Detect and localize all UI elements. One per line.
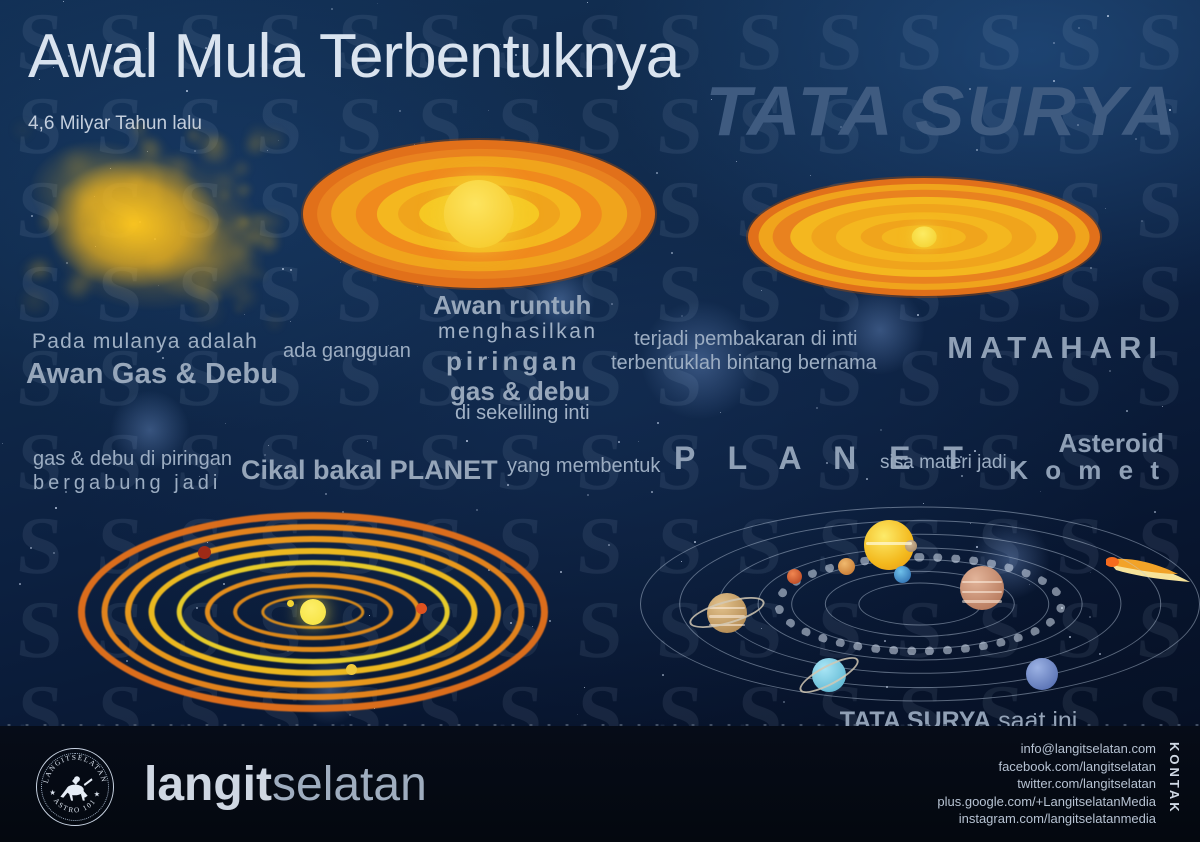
cloud-fleck	[188, 298, 229, 326]
cloud-fleck	[251, 268, 270, 281]
caption-star-name: MATAHARI	[947, 330, 1164, 366]
star	[349, 714, 351, 716]
caption-comet: K o m e t	[1009, 455, 1164, 486]
cloud-fleck	[252, 230, 265, 239]
cloud-fleck	[226, 243, 254, 263]
star	[587, 2, 588, 3]
star	[1126, 410, 1128, 412]
cloud-fleck	[55, 148, 97, 177]
star	[638, 441, 639, 442]
star	[611, 303, 613, 305]
brand-name-bold: langit	[144, 758, 272, 811]
caption-disturbance: ada gangguan	[283, 340, 411, 363]
page-title: Awal Mula Terbentuknya	[28, 26, 679, 88]
star	[55, 507, 57, 509]
star	[19, 583, 21, 585]
cloud-fleck	[139, 226, 150, 233]
star	[816, 407, 818, 409]
cloud-fleck	[261, 214, 283, 230]
star	[866, 478, 868, 480]
star	[651, 491, 653, 493]
star	[325, 493, 327, 495]
cloud-fleck	[68, 251, 107, 278]
badge-centaur-emblem	[60, 776, 92, 800]
star	[587, 494, 589, 496]
cloud-fleck	[157, 152, 199, 182]
watermark-glyph: S	[0, 504, 83, 588]
star	[30, 547, 32, 549]
star	[608, 544, 610, 546]
planet-band	[962, 591, 1002, 593]
footer-divider	[0, 724, 1200, 726]
protoplanetary-system-illustration	[78, 512, 548, 712]
planet-mars	[787, 569, 802, 584]
star	[720, 412, 721, 413]
caption-collapse-line4: di sekeliling inti	[455, 402, 590, 425]
protostar-disk-illustration	[748, 178, 1100, 296]
watermark-glyph: S	[557, 504, 643, 588]
asteroid-belt	[774, 553, 1065, 655]
star	[268, 445, 269, 446]
watermark-glyph: S	[557, 588, 643, 672]
star	[671, 252, 673, 254]
caption-cloud-line2: Awan Gas & Debu	[26, 358, 278, 391]
cloud-fleck	[80, 223, 102, 239]
star	[1107, 15, 1109, 17]
star	[681, 315, 683, 317]
cloud-fleck	[217, 190, 233, 201]
star	[290, 321, 291, 322]
star	[1162, 406, 1163, 407]
cloud-fleck	[204, 268, 214, 275]
star	[549, 620, 551, 622]
protoplanet-pale	[346, 664, 357, 675]
cloud-fleck	[210, 214, 220, 221]
page-title-accent: TATA SURYA	[705, 76, 1178, 146]
star	[225, 423, 226, 424]
gas-dust-cloud-illustration	[22, 128, 276, 328]
contact-section-label: KONTAK	[1167, 742, 1182, 815]
caption-forming: yang membentuk	[507, 455, 660, 478]
cloud-fleck	[233, 182, 255, 198]
star	[367, 441, 368, 442]
contact-item[interactable]: twitter.com/langitselatan	[937, 775, 1156, 793]
star	[880, 429, 882, 431]
infographic-poster: SSSSSSSSSSSSSSSSSSSSSSSSSSSSSSSSSSSSSSSS…	[0, 0, 1200, 842]
cloud-fleck	[132, 132, 146, 142]
star	[584, 687, 585, 688]
disk-core	[912, 226, 937, 247]
watermark-glyph: S	[1117, 168, 1200, 252]
contact-item[interactable]: facebook.com/langitselatan	[937, 758, 1156, 776]
caption-protoplanet: Cikal bakal PLANET	[241, 455, 498, 486]
protostar-core	[300, 599, 326, 625]
collapsing-disk-illustration	[303, 140, 655, 288]
star	[2, 443, 3, 444]
cloud-fleck	[14, 287, 54, 315]
star	[53, 552, 55, 554]
caption-ignition-line2: terbentuklah bintang bernama	[611, 352, 877, 375]
cloud-fleck	[226, 214, 255, 234]
cloud-fleck	[10, 121, 35, 139]
planet-jupiter	[960, 566, 1004, 610]
contact-item[interactable]: instagram.com/langitselatanmedia	[937, 810, 1156, 828]
sun-band	[866, 542, 912, 545]
star	[476, 509, 478, 511]
planet-band	[962, 600, 1002, 602]
caption-cloud-line1: Pada mulanya adalah	[32, 330, 258, 354]
caption-accretion-line2: bergabung jadi	[33, 472, 221, 495]
caption-collapse-line1: menghasilkan	[438, 320, 598, 344]
star	[917, 314, 919, 316]
cloud-fleck	[188, 278, 217, 298]
caption-collapse-title: Awan runtuh	[433, 290, 591, 321]
star	[736, 161, 737, 162]
star	[1078, 27, 1080, 29]
cloud-fleck	[194, 136, 235, 165]
planet-earth	[894, 566, 911, 583]
cloud-fleck	[144, 209, 165, 224]
star	[1053, 42, 1055, 44]
disk-core	[444, 180, 514, 248]
protoplanet-red	[198, 546, 211, 559]
star	[1141, 220, 1143, 222]
cloud-fleck	[267, 317, 282, 328]
caption-accretion-line1: gas & debu di piringan	[33, 448, 232, 471]
star	[466, 440, 468, 442]
contact-item[interactable]: plus.google.com/+LangitselatanMedia	[937, 793, 1156, 811]
badge-lettering: LANGITSELATAN ★ ASTRO 101 ★	[37, 749, 113, 825]
watermark-glyph: S	[0, 588, 83, 672]
star	[282, 268, 284, 270]
star	[560, 571, 562, 573]
star	[618, 441, 620, 443]
brand-name-light: selatan	[272, 758, 427, 811]
langitselatan-badge-logo: LANGITSELATAN ★ ASTRO 101 ★	[36, 748, 114, 826]
cloud-fleck	[229, 286, 259, 307]
cloud-fleck	[242, 125, 274, 147]
star	[1105, 208, 1106, 209]
cloud-fleck	[22, 266, 37, 277]
cloud-fleck	[70, 187, 102, 210]
brand-wordmark: langitselatan	[144, 758, 427, 812]
star	[657, 422, 659, 424]
watermark-glyph: S	[1117, 252, 1200, 336]
star	[577, 714, 578, 715]
star	[290, 269, 292, 271]
star	[63, 1, 64, 2]
planet-band	[962, 581, 1002, 583]
planet-venus	[838, 558, 855, 575]
caption-leftover: sisa materi jadi	[880, 452, 1007, 474]
star	[1109, 370, 1111, 372]
star	[377, 3, 378, 4]
star	[1040, 491, 1041, 492]
star	[810, 175, 811, 176]
contact-item[interactable]: info@langitselatan.com	[937, 740, 1156, 758]
star	[656, 172, 658, 174]
star	[507, 484, 509, 486]
caption-collapse-line2: piringan	[446, 346, 581, 377]
star	[331, 8, 333, 10]
contact-list: info@langitselatan.comfacebook.com/langi…	[937, 740, 1156, 828]
caption-ignition-line1: terjadi pembakaran di inti	[634, 328, 857, 351]
cloud-fleck	[160, 254, 176, 265]
star	[488, 110, 489, 111]
star	[399, 110, 401, 112]
